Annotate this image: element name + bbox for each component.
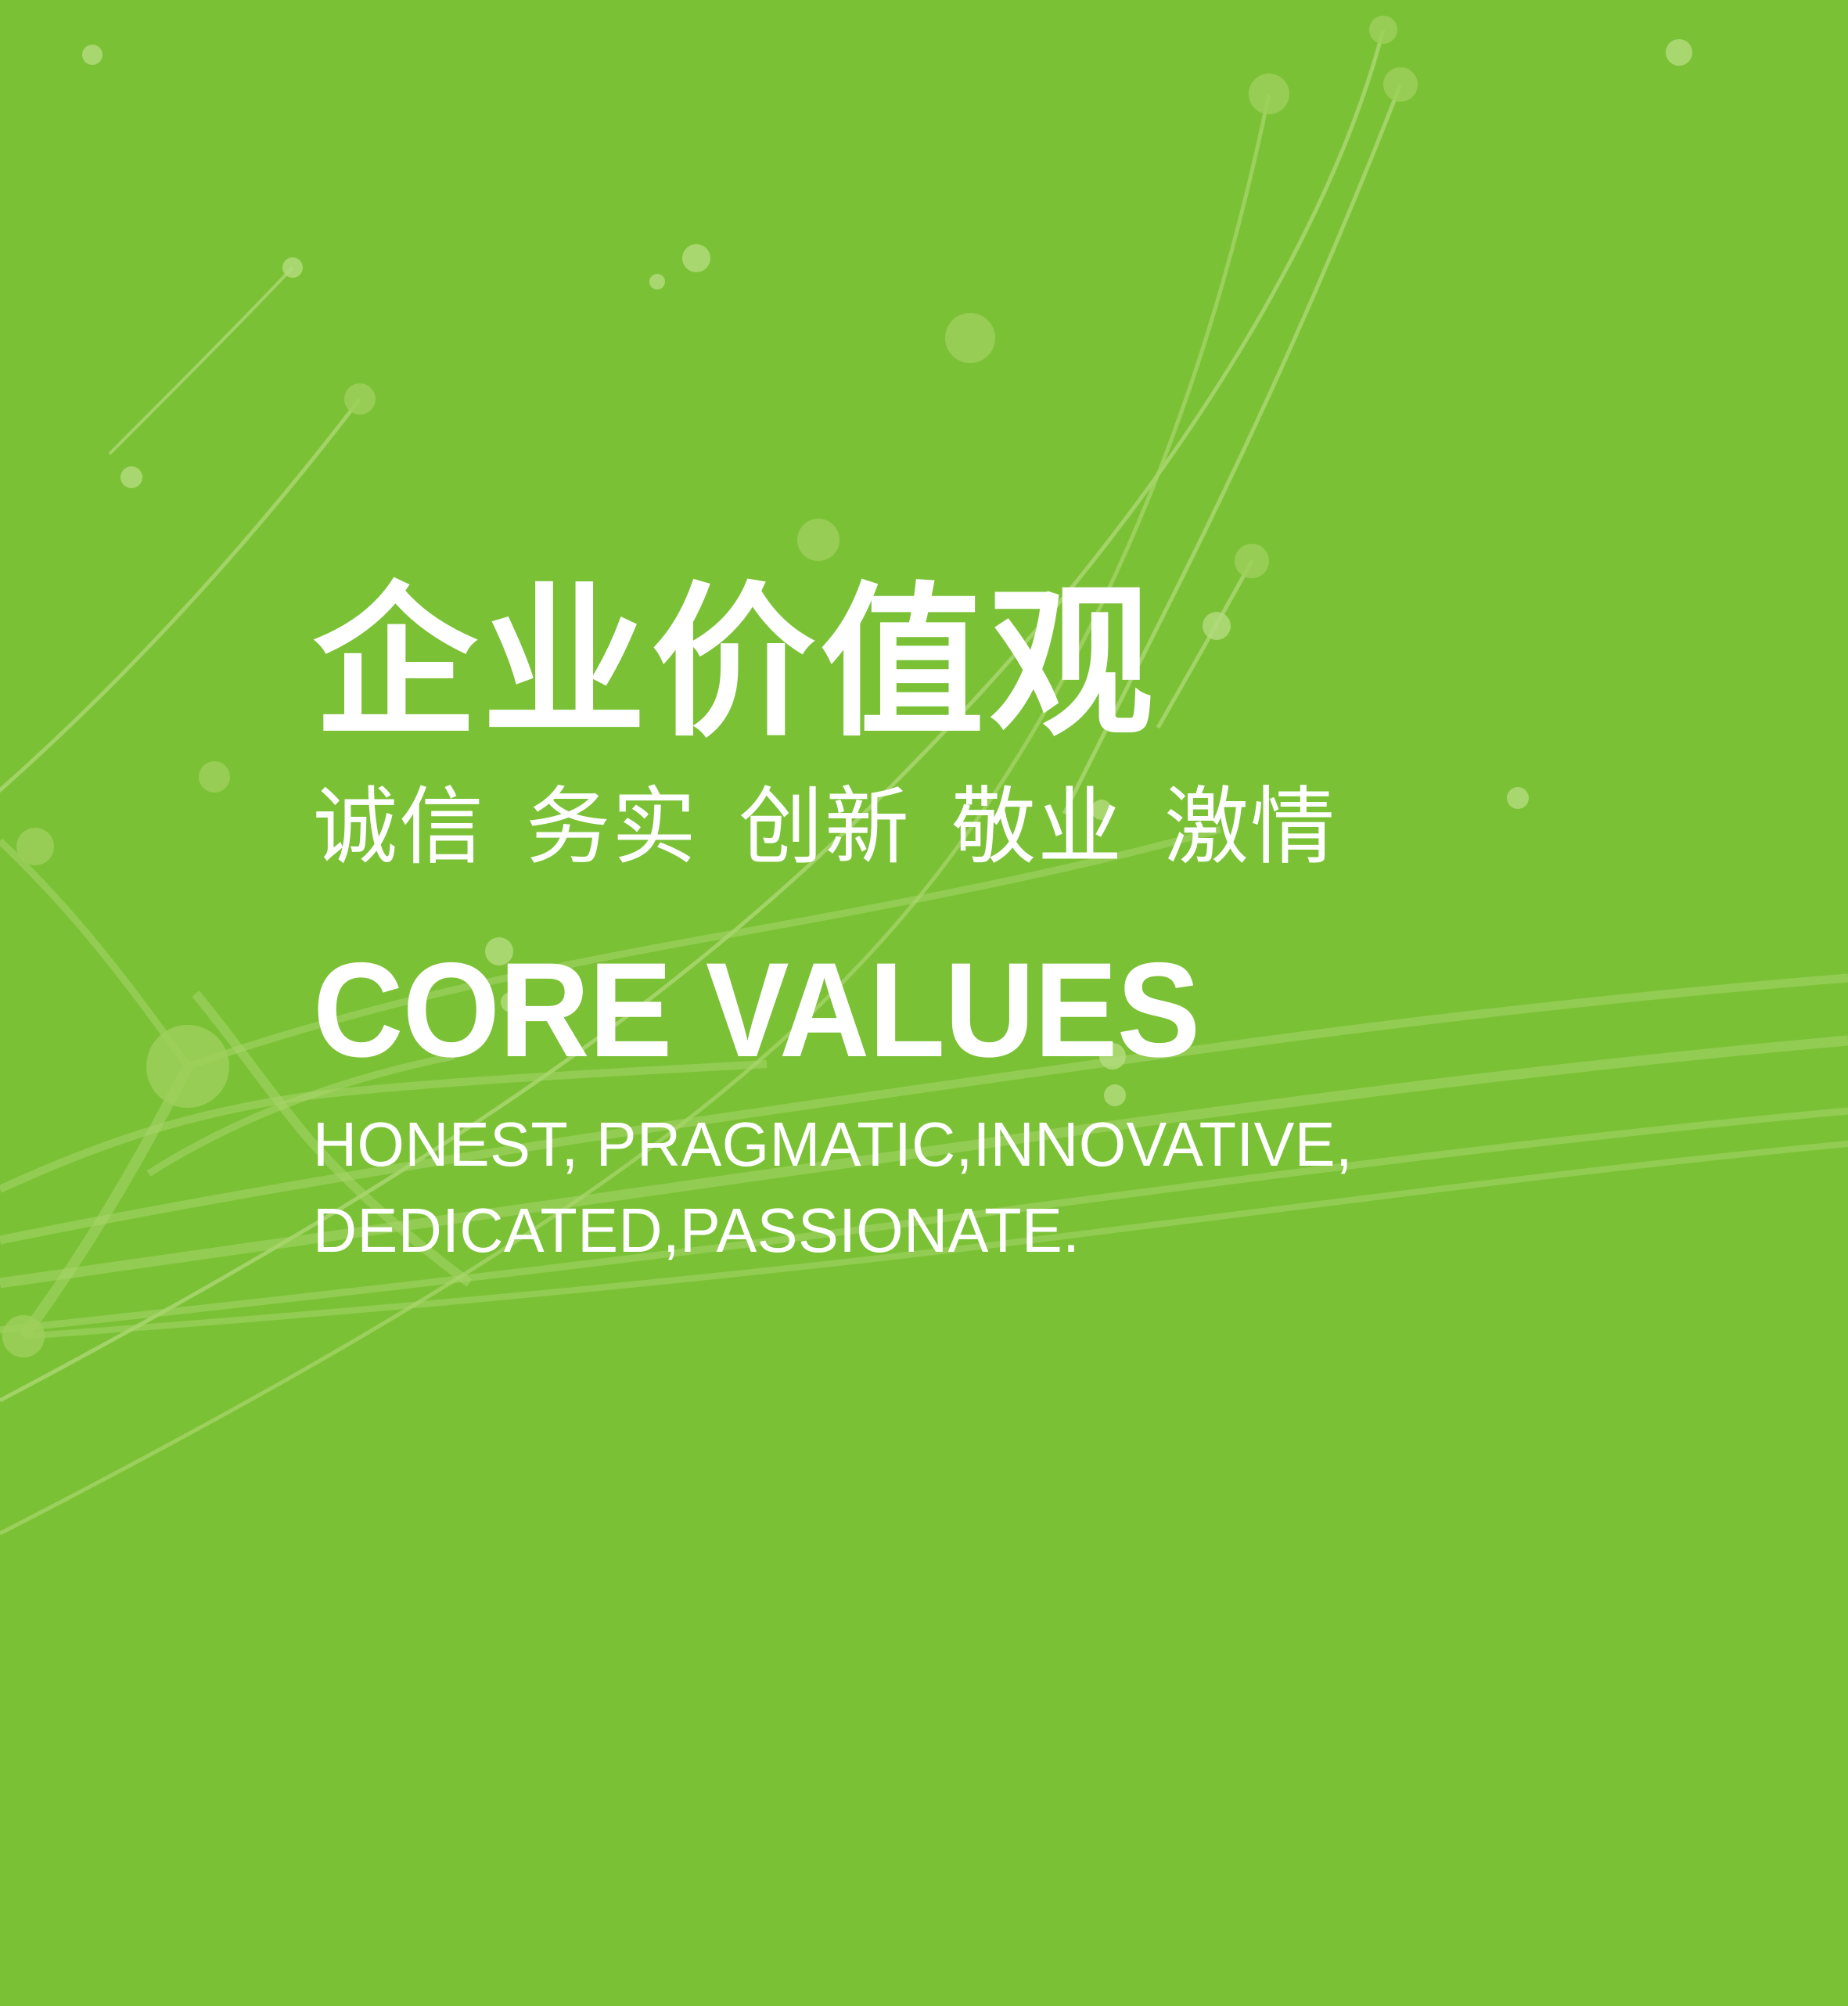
english-values-block: HONEST, PRAGMATIC,INNOVATIVE, DEDICATED,… [313,1102,1755,1274]
chinese-value-0: 诚信 [313,778,485,876]
english-title: CORE VALUES [313,942,1695,1079]
chinese-value-1: 务实 [526,778,698,876]
core-values-poster: .ln { fill:none; stroke:#A6D46A; stroke-… [0,0,1848,2006]
english-values-line-1: HONEST, PRAGMATIC,INNOVATIVE, [313,1102,1755,1188]
english-values-line-2: DEDICATED,PASSIONATE. [313,1188,1755,1274]
chinese-value-2: 创新 [739,778,911,876]
chinese-value-4: 激情 [1164,778,1336,876]
chinese-values-line: 诚信务实创新敬业激情 [313,767,1799,890]
chinese-value-3: 敬业 [951,778,1124,876]
chinese-title: 企业价值观 [313,575,1799,753]
poster-text-block: 企业价值观 诚信务实创新敬业激情 CORE VALUES HONEST, PRA… [313,575,1799,1274]
